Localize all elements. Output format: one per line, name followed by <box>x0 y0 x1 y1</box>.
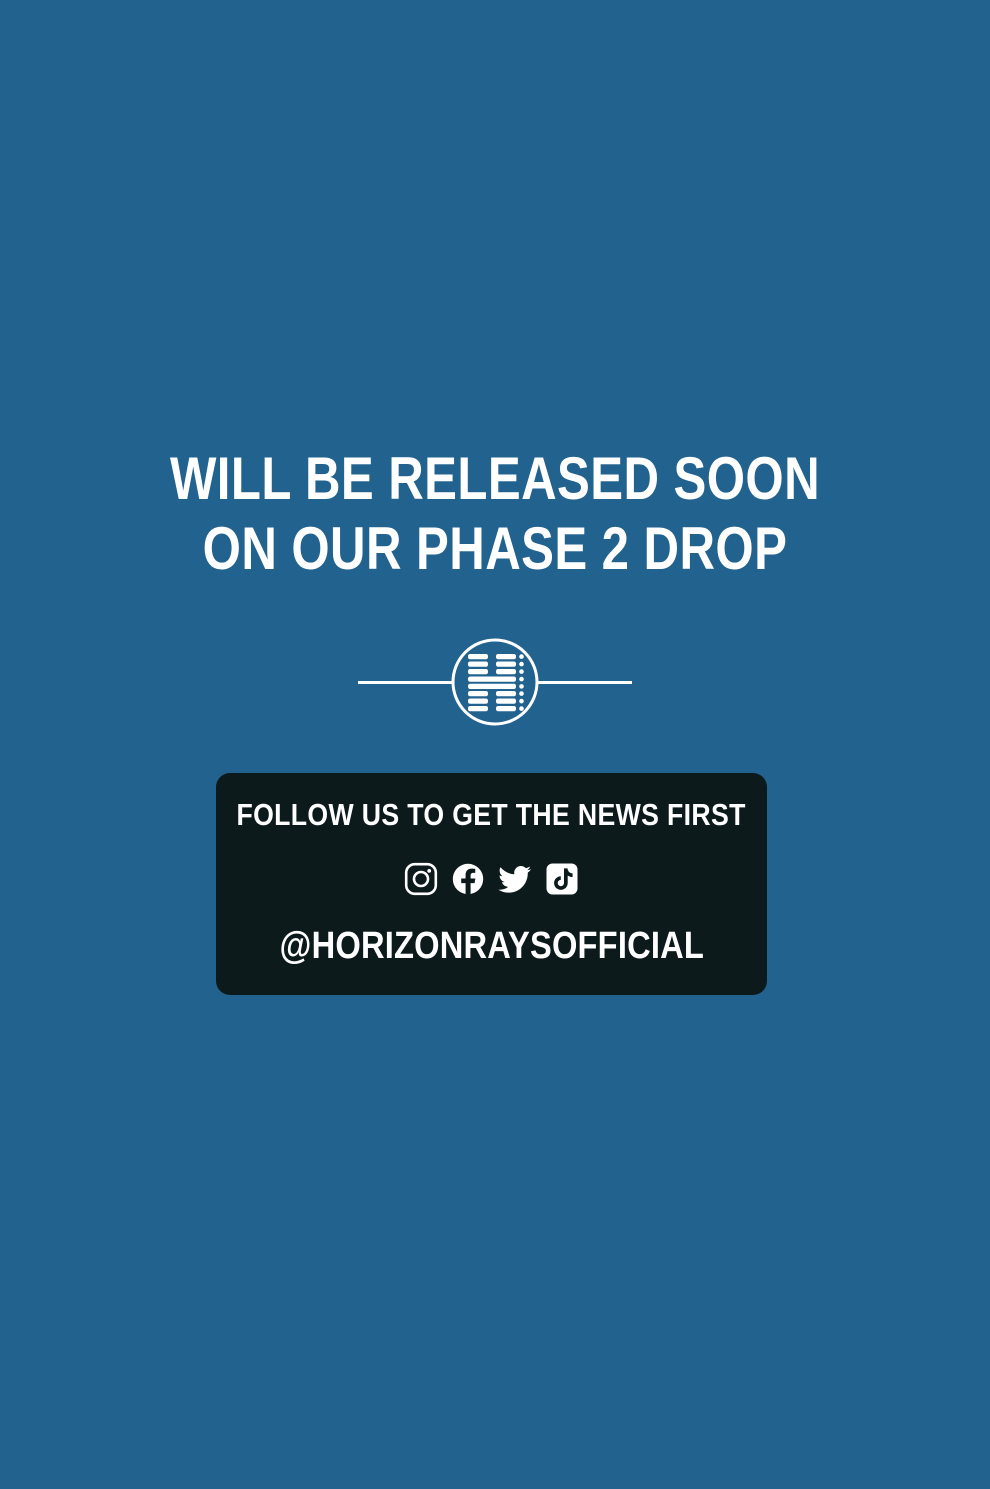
instagram-icon[interactable] <box>404 862 438 896</box>
headline-block: WILL BE RELEASED SOON ON OUR PHASE 2 DRO… <box>0 444 990 584</box>
twitter-icon[interactable] <box>498 862 532 896</box>
divider-rule-left <box>358 681 454 684</box>
tiktok-icon[interactable] <box>545 862 579 896</box>
divider <box>358 638 632 728</box>
horizon-rays-h-monogram-icon <box>451 638 539 726</box>
headline-line-1: WILL BE RELEASED SOON <box>89 444 901 514</box>
headline-line-2: ON OUR PHASE 2 DROP <box>89 514 901 584</box>
follow-card-heading: FOLLOW US TO GET THE NEWS FIRST <box>237 798 746 832</box>
follow-card: FOLLOW US TO GET THE NEWS FIRST <box>216 773 767 995</box>
promo-canvas: WILL BE RELEASED SOON ON OUR PHASE 2 DRO… <box>0 0 990 1489</box>
social-handle: @HORIZONRAYSOFFICIAL <box>279 926 703 966</box>
facebook-icon[interactable] <box>451 862 485 896</box>
social-links-row <box>404 862 579 896</box>
divider-rule-right <box>536 681 632 684</box>
